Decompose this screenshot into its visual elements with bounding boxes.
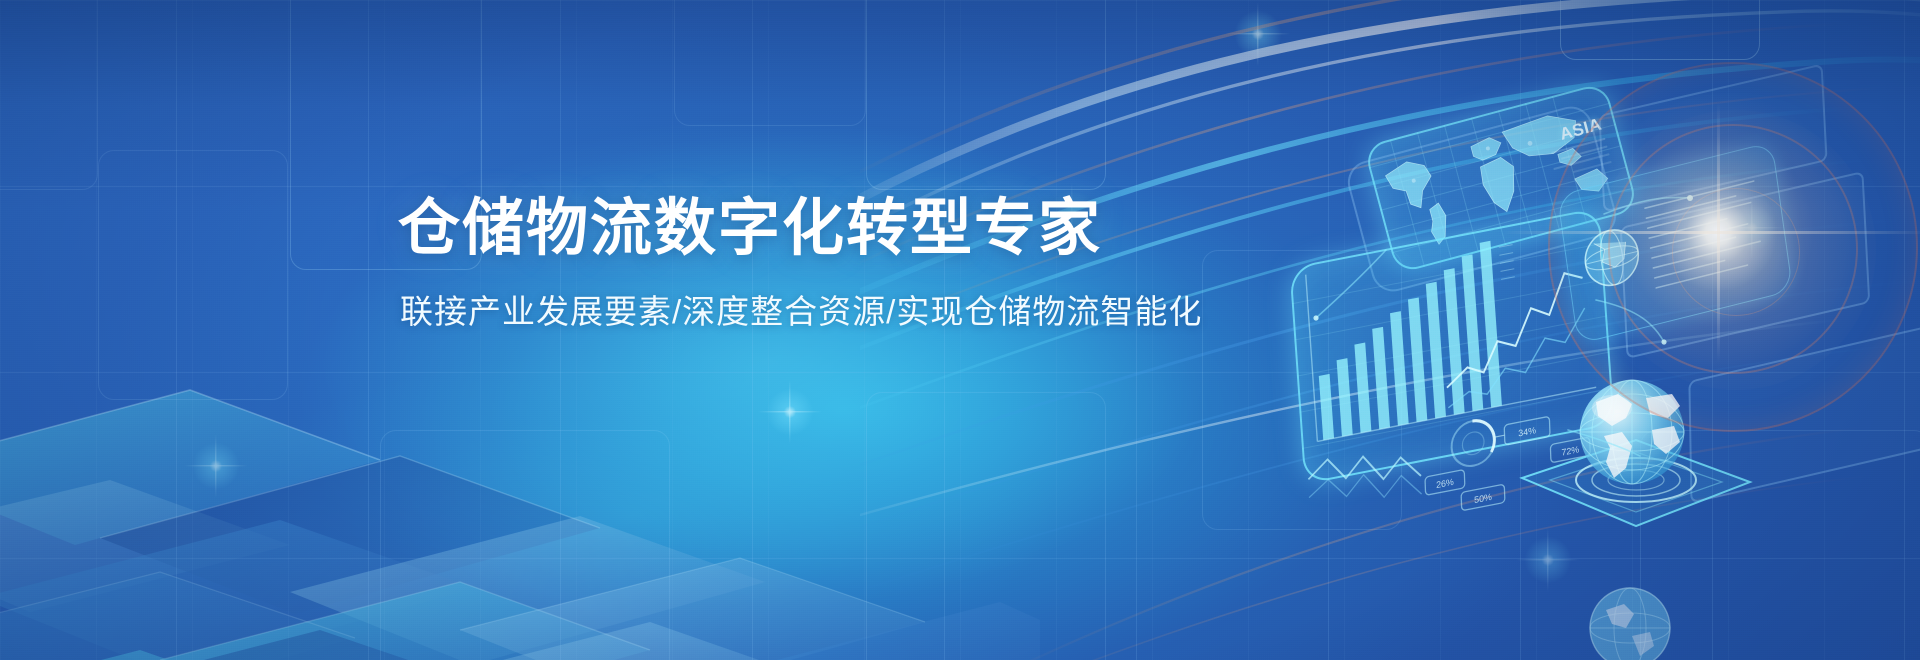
page-subtitle: 联接产业发展要素/深度整合资源/实现仓储物流智能化	[400, 292, 1218, 332]
page-title: 仓储物流数字化转型专家	[398, 196, 1218, 262]
globe-platform	[1500, 350, 1770, 540]
headline-block: 仓储物流数字化转型专家 联接产业发展要素/深度整合资源/实现仓储物流智能化	[398, 196, 1218, 331]
svg-text:50%: 50%	[1474, 492, 1492, 505]
globe-secondary	[1566, 580, 1696, 660]
globe-platform-svg	[1500, 350, 1770, 540]
hero-banner: ASIA	[0, 0, 1920, 660]
svg-text:26%: 26%	[1436, 477, 1454, 490]
globe-secondary-svg	[1566, 580, 1696, 660]
